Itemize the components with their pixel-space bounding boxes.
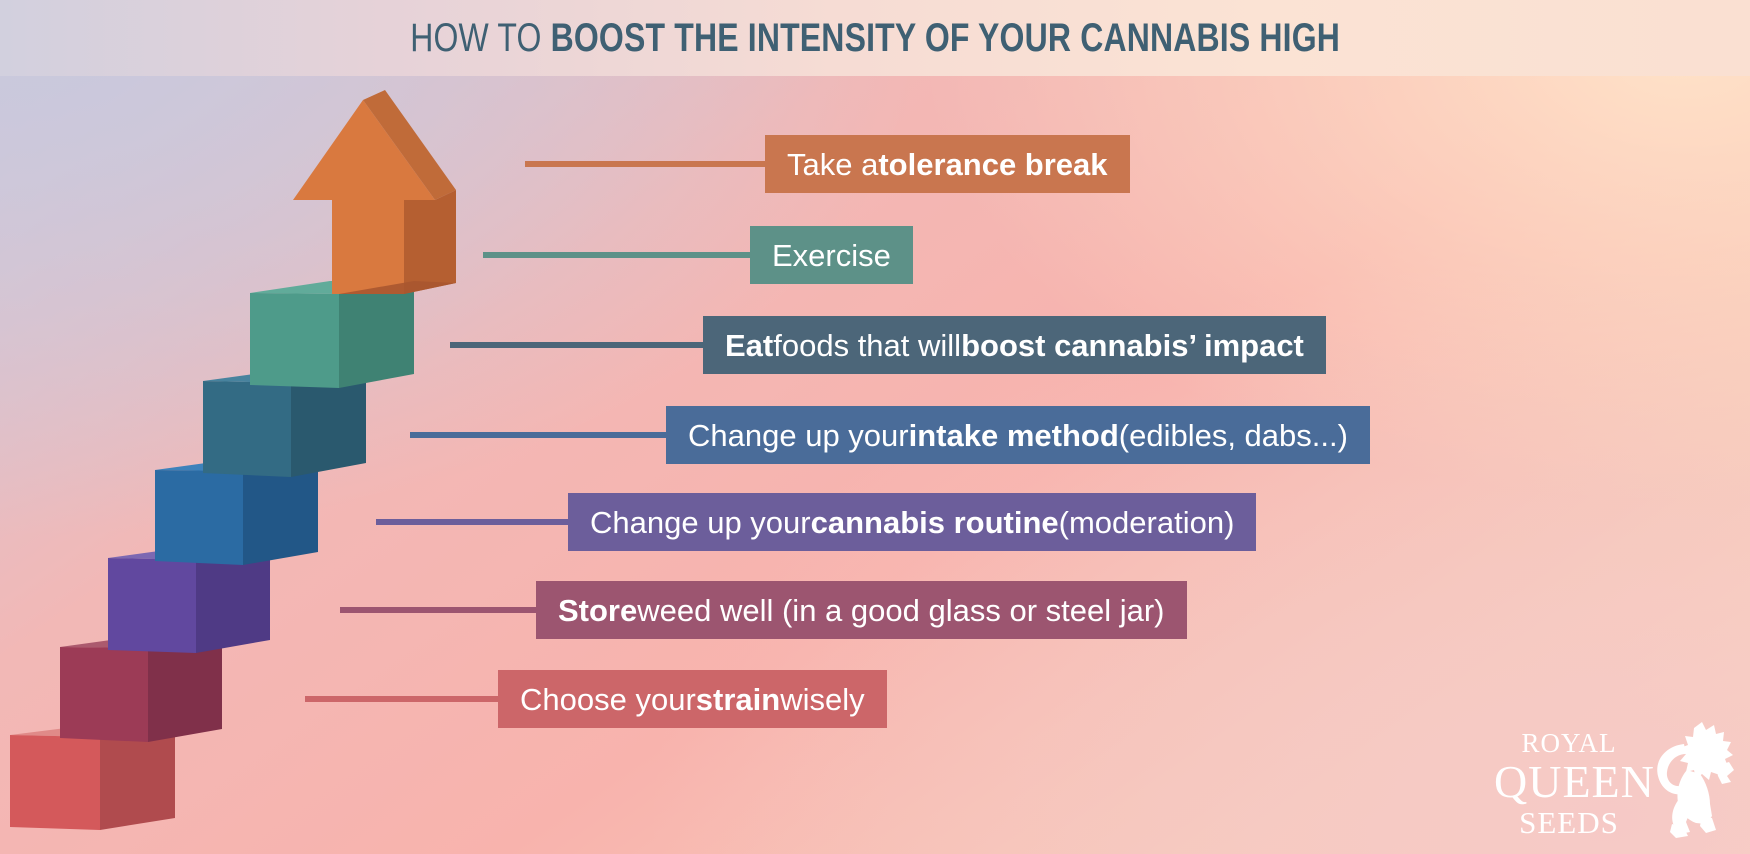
up-arrow-icon [293, 90, 456, 294]
page-title-bold: BOOST THE INTENSITY OF YOUR CANNABIS HIG… [550, 16, 1339, 60]
connector-line-4 [410, 432, 666, 438]
step-label-4-part-3: (edibles, dabs...) [1119, 420, 1348, 451]
step-label-7-part-3: wisely [780, 684, 864, 715]
step-label-1-part-2: tolerance break [878, 149, 1107, 180]
step-label-7[interactable]: Choose your strain wisely [498, 670, 887, 728]
step-label-6-part-2: weed well (in a good glass or steel jar) [637, 595, 1164, 626]
brand-logo-line-seeds: SEEDS [1494, 807, 1644, 838]
step-row-2[interactable]: Exercise [483, 226, 913, 284]
brand-logo-wordmark: ROYAL QUEEN SEEDS [1494, 716, 1644, 840]
step-label-5-part-1: Change up your [590, 507, 811, 538]
brand-logo-line-royal: ROYAL [1494, 730, 1644, 757]
step-row-4[interactable]: Change up your intake method (edibles, d… [410, 406, 1370, 464]
page-title: HOW TO BOOST THE INTENSITY OF YOUR CANNA… [410, 18, 1340, 58]
step-label-6[interactable]: Store weed well (in a good glass or stee… [536, 581, 1187, 639]
step-label-3-part-1: Eat [725, 330, 773, 361]
connector-line-7 [305, 696, 498, 702]
step-row-7[interactable]: Choose your strain wisely [305, 670, 887, 728]
step-row-1[interactable]: Take a tolerance break [525, 135, 1130, 193]
step-label-2-part-1: Exercise [772, 240, 891, 271]
connector-line-1 [525, 161, 765, 167]
step-label-5-part-2: cannabis routine [811, 507, 1059, 538]
step-row-5[interactable]: Change up your cannabis routine (moderat… [376, 493, 1256, 551]
step-row-3[interactable]: Eat foods that will boost cannabis’ impa… [450, 316, 1326, 374]
brand-logo[interactable]: ROYAL QUEEN SEEDS [1494, 716, 1730, 840]
step-label-6-part-1: Store [558, 595, 637, 626]
step-label-4-part-2: intake method [909, 420, 1119, 451]
rampant-lion-icon [1632, 720, 1736, 840]
brand-logo-line-queen: QUEEN [1494, 759, 1644, 805]
connector-line-3 [450, 342, 703, 348]
page-title-light: HOW TO [410, 16, 550, 60]
step-block-2 [250, 281, 414, 388]
step-label-2[interactable]: Exercise [750, 226, 913, 284]
step-label-3-part-3: boost cannabis’ impact [961, 330, 1304, 361]
step-label-1-part-1: Take a [787, 149, 878, 180]
step-label-5[interactable]: Change up your cannabis routine (moderat… [568, 493, 1256, 551]
step-label-5-part-3: (moderation) [1059, 507, 1235, 538]
step-label-7-part-2: strain [696, 684, 780, 715]
step-label-3[interactable]: Eat foods that will boost cannabis’ impa… [703, 316, 1326, 374]
step-label-7-part-1: Choose your [520, 684, 696, 715]
connector-line-2 [483, 252, 750, 258]
step-label-1[interactable]: Take a tolerance break [765, 135, 1130, 193]
title-bar: HOW TO BOOST THE INTENSITY OF YOUR CANNA… [0, 0, 1750, 76]
connector-line-6 [340, 607, 536, 613]
step-label-4[interactable]: Change up your intake method (edibles, d… [666, 406, 1370, 464]
step-label-4-part-1: Change up your [688, 420, 909, 451]
step-row-6[interactable]: Store weed well (in a good glass or stee… [340, 581, 1187, 639]
step-label-3-part-2: foods that will [773, 330, 961, 361]
connector-line-5 [376, 519, 568, 525]
